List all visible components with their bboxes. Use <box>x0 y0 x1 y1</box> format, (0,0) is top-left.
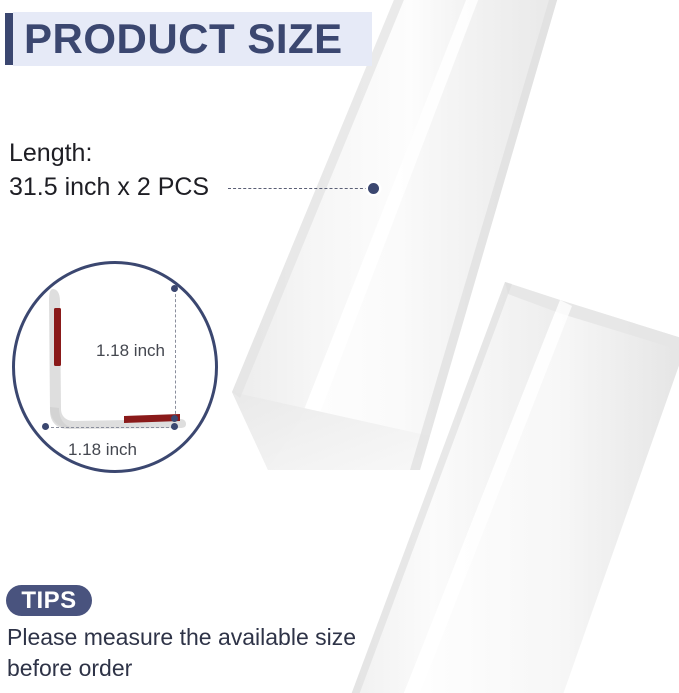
horizontal-dimension-dot-right <box>171 423 178 430</box>
tips-text: Please measure the available size before… <box>7 622 367 684</box>
page-title: PRODUCT SIZE <box>24 11 343 67</box>
vertical-dimension-line <box>175 289 176 419</box>
tips-badge: TIPS <box>6 585 92 616</box>
header-accent-bar <box>5 13 13 65</box>
vertical-dimension-label: 1.18 inch <box>96 341 165 361</box>
product-piece-2 <box>348 282 679 693</box>
product-size-infographic: PRODUCT SIZE Length: 31.5 inch x 2 PCS 1… <box>0 0 679 693</box>
length-value: 31.5 inch x 2 PCS <box>9 170 269 204</box>
horizontal-dimension-label: 1.18 inch <box>68 440 137 460</box>
product-piece-1 <box>232 0 560 470</box>
vertical-dimension-dot-top <box>171 285 178 292</box>
length-label: Length: <box>9 136 269 170</box>
vertical-dimension-dot-bottom <box>171 415 178 422</box>
length-leader-line <box>228 188 368 189</box>
horizontal-dimension-dot-left <box>42 423 49 430</box>
length-callout: Length: 31.5 inch x 2 PCS <box>9 136 269 204</box>
horizontal-dimension-line <box>46 427 174 428</box>
length-leader-dot <box>368 183 379 194</box>
